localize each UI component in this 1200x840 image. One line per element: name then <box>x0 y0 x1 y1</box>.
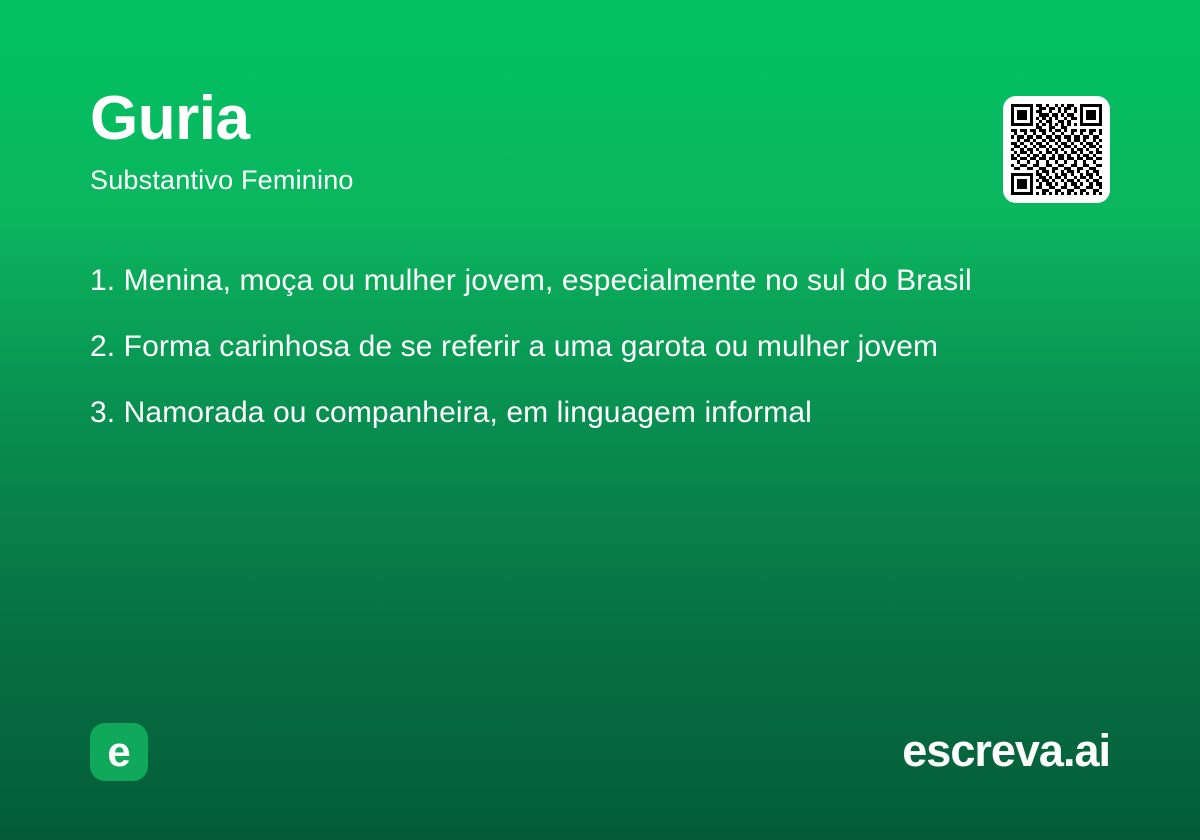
qr-code-card[interactable] <box>1003 96 1110 203</box>
page-title: Guria <box>90 88 1110 150</box>
brand-logo-mark: e <box>90 723 148 781</box>
definition-item: 1. Menina, moça ou mulher jovem, especia… <box>90 248 1120 314</box>
definition-list: 1. Menina, moça ou mulher jovem, especia… <box>90 248 1120 446</box>
definition-item: 3. Namorada ou companheira, em linguagem… <box>90 380 1120 446</box>
qr-code-icon <box>1011 104 1102 195</box>
brand-wordmark: escreva.ai <box>902 722 1110 780</box>
definition-item: 2. Forma carinhosa de se referir a uma g… <box>90 314 1120 380</box>
brand-logo-letter: e <box>90 723 148 781</box>
word-class-label: Substantivo Feminino <box>90 150 1110 194</box>
word-definition-card: Guria Substantivo Feminino 1. Menina, mo… <box>0 0 1200 840</box>
card-header: Guria Substantivo Feminino <box>90 88 1110 194</box>
